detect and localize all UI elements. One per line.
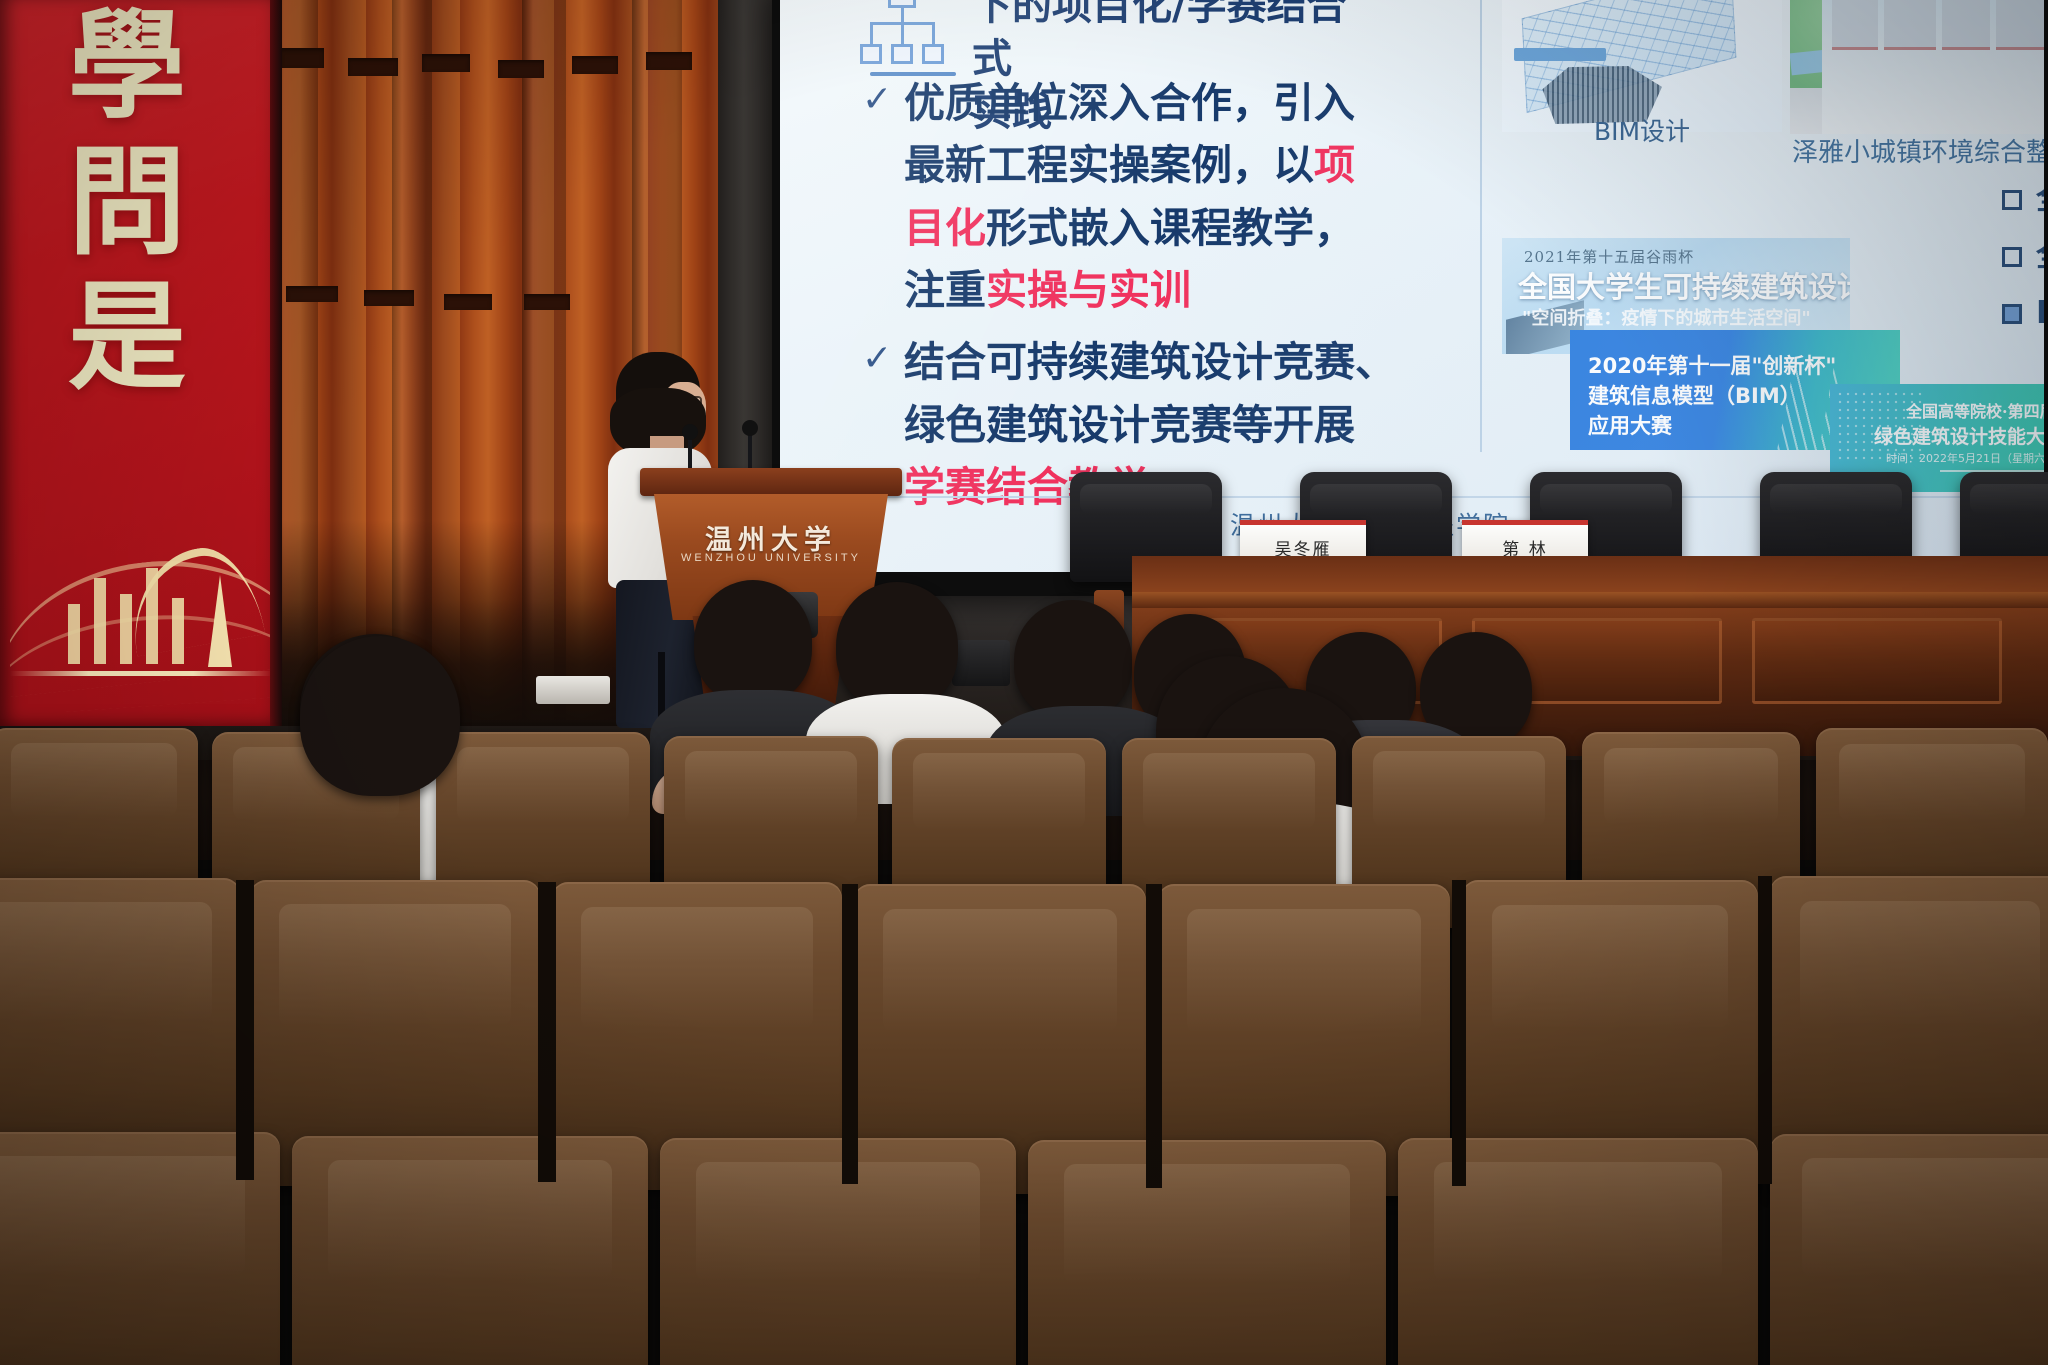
poster-b-line-1: 2020年第十一届"创新杯" — [1588, 350, 1836, 380]
slide-bullet-list: ✓ 优质单位深入合作，引入 最新工程实操案例，以项 目化形式嵌入课程教学， 注重… — [862, 72, 1452, 528]
check-icon: ✓ — [862, 72, 890, 321]
seat — [1028, 1140, 1386, 1365]
checklist-label-1: 全国大 — [2036, 184, 2044, 215]
bullet-1-line-4: 注重实操与实训 — [904, 259, 1452, 321]
poster-b-line-2: 建筑信息模型（BIM） — [1588, 380, 1801, 410]
banner-char-2: 問 — [68, 134, 186, 270]
poster-b-line-3: 应用大赛 — [1588, 410, 1672, 440]
bullet-1-line-3: 目化形式嵌入课程教学， — [904, 197, 1452, 259]
seat — [292, 1136, 648, 1365]
lecture-hall-scene: 學 問 是 — [0, 0, 2048, 1365]
audience-seating — [0, 680, 2048, 1365]
microphone-head-left — [682, 424, 698, 440]
checkbox-icon — [2002, 190, 2022, 210]
zeya-town-caption: 泽雅小城镇环境综合整 — [1772, 132, 2044, 169]
seat — [660, 1138, 1016, 1365]
slide-column-separator — [1480, 0, 1482, 452]
checkbox-checked-icon — [2002, 304, 2022, 324]
slide-checklist: 全国大 全国绿 BIM应 — [2002, 184, 2044, 355]
org-chart-icon — [858, 0, 954, 82]
checklist-item-1: 全国大 — [2002, 184, 2044, 215]
podium-logo-en: WENZHOU UNIVERSITY — [654, 552, 888, 564]
checkbox-icon — [2002, 247, 2022, 267]
checklist-label-2: 全国绿 — [2036, 241, 2044, 272]
podium-top — [640, 468, 902, 496]
red-calligraphy-banner: 學 問 是 — [0, 0, 272, 726]
banner-char-3: 是 — [68, 269, 186, 405]
bullet-1-line-1: 优质单位深入合作，引入 — [904, 72, 1452, 134]
microphone-head-right — [742, 420, 758, 436]
banner-characters: 學 問 是 — [42, 0, 212, 405]
checklist-label-3: BIM应 — [2036, 298, 2044, 329]
poster-c-line-1: 全国高等院校·第四届 — [1906, 398, 2044, 422]
bullet-item-1: ✓ 优质单位深入合作，引入 最新工程实操案例，以项 目化形式嵌入课程教学， 注重… — [862, 72, 1452, 321]
table-trim — [1132, 592, 2048, 608]
seat — [1770, 1134, 2048, 1365]
audience-head-front — [300, 636, 460, 796]
poster-c-line-2: 绿色建筑设计技能大赛决赛评选会 — [1874, 422, 2044, 449]
audience-head — [836, 582, 958, 710]
checklist-item-2: 全国绿 — [2002, 241, 2044, 272]
bullet-2-line-2: 绿色建筑设计竞赛等开展 — [904, 394, 1452, 456]
poster-a-line-3: "空间折叠：疫情下的城市生活空间" — [1522, 304, 1811, 330]
audience-head — [1014, 600, 1132, 720]
banner-bridge-artwork — [10, 482, 272, 712]
poster-a-line-2: 全国大学生可持续建筑设计竞赛 — [1518, 264, 1850, 306]
bullet-2-line-1: 结合可持续建筑设计竞赛、 — [904, 331, 1452, 393]
checklist-item-3: BIM应 — [2002, 298, 2044, 329]
audience-head — [694, 580, 812, 704]
bullet-1-line-2: 最新工程实操案例，以项 — [904, 134, 1452, 196]
banner-char-1: 學 — [68, 0, 186, 134]
poster-c-line-3: 时间：2022年5月21日（星期六）8:30-17:30 — [1886, 450, 2044, 466]
town-street-photo — [1822, 0, 2044, 134]
